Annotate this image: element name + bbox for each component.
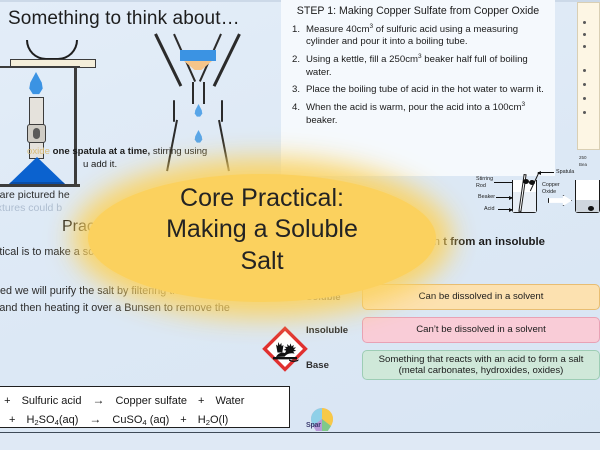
spatula-pointer bbox=[538, 172, 554, 173]
bottom-strip bbox=[0, 432, 600, 450]
step-text: Using a kettle, fill a 250cm3 beaker hal… bbox=[306, 54, 549, 79]
list-item: 2. Using a kettle, fill a 250cm3 beaker … bbox=[287, 54, 549, 79]
step-list: 1. Measure 40cm3 of sulfuric acid using … bbox=[287, 24, 549, 128]
bunsen-flame-icon bbox=[28, 72, 44, 95]
overlay-title-line-3: Salt bbox=[88, 246, 436, 277]
step-instructions-panel: STEP 1: Making Copper Sulfate from Coppe… bbox=[281, 0, 555, 176]
bullet-dot bbox=[583, 97, 586, 100]
slide-thumbnail: Something to think about… ques are pictu… bbox=[0, 0, 600, 450]
symbol-equation-row: + H2SO4(aq) → CuSO4 (aq) + H2O(l) bbox=[0, 412, 289, 426]
acid-label: Acid bbox=[484, 206, 495, 213]
insoluble-fragment-bold: t from an insoluble bbox=[443, 236, 545, 248]
word-arrow-icon: → bbox=[92, 393, 104, 407]
word-plus-2: + bbox=[198, 395, 204, 407]
collection-beaker-left bbox=[173, 100, 175, 122]
step-panel-title: STEP 1: Making Copper Sulfate from Coppe… bbox=[281, 0, 555, 19]
droplet-icon bbox=[194, 130, 203, 143]
step-number: 1. bbox=[287, 24, 300, 49]
definition-meaning: Can’t be dissolved in a solvent bbox=[362, 317, 600, 343]
list-item: 4. When the acid is warm, pour the acid … bbox=[287, 102, 549, 127]
word-equation-box: e + Sulfuric acid → Copper sulfate + Wat… bbox=[0, 386, 290, 428]
page-title: Something to think about… bbox=[8, 8, 240, 30]
stirring-rod-label: StirringRod bbox=[476, 176, 493, 189]
environment-hazard-icon bbox=[262, 326, 308, 372]
definition-meaning: Something that reacts with an acid to fo… bbox=[362, 350, 600, 380]
bullet-dot bbox=[583, 33, 586, 36]
funnel-liquid bbox=[180, 50, 216, 61]
step-text: When the acid is warm, pour the acid int… bbox=[306, 102, 549, 127]
step-number: 2. bbox=[287, 54, 300, 79]
symbol-product-2: H2O(l) bbox=[198, 414, 229, 426]
step-number: 3. bbox=[287, 84, 300, 97]
step-five-suffix: stirring using bbox=[150, 146, 207, 157]
word-plus-1: + bbox=[4, 395, 10, 407]
copper-oxide-label: CopperOxide bbox=[542, 182, 560, 195]
step-text: Measure 40cm3 of sulfuric acid using a m… bbox=[306, 24, 549, 49]
word-equation-row: e + Sulfuric acid → Copper sulfate + Wat… bbox=[0, 393, 289, 407]
funnel-stem-left bbox=[192, 82, 194, 104]
process-arrow-icon bbox=[548, 195, 572, 206]
side-note-line-1: 250 bbox=[579, 155, 600, 162]
bullet-dot bbox=[583, 83, 586, 86]
tripod-top-bar bbox=[0, 66, 80, 68]
bunsen-air-hole bbox=[33, 128, 40, 139]
word-product-1: Copper sulfate bbox=[115, 395, 187, 407]
list-item: 1. Measure 40cm3 of sulfuric acid using … bbox=[287, 24, 549, 49]
symbol-product-1: CuSO4 (aq) bbox=[112, 414, 169, 426]
copper-oxide-powder bbox=[529, 180, 535, 185]
step-number: 4. bbox=[287, 102, 300, 127]
list-item: 3. Place the boiling tube of acid in the… bbox=[287, 84, 549, 97]
bullet-dot bbox=[583, 45, 586, 48]
collection-beaker-right bbox=[221, 100, 223, 122]
step-five-prefix: oxide bbox=[27, 146, 53, 157]
residue-blob bbox=[588, 206, 594, 211]
definitions-table: Soluble Can be dissolved in a solvent In… bbox=[296, 284, 600, 387]
beaker-label: Beaker bbox=[478, 194, 495, 201]
step-five-line-2: u add it. bbox=[27, 159, 271, 172]
spatula-label: Spatula bbox=[556, 169, 574, 176]
droplet-icon bbox=[194, 104, 203, 117]
product-liquid bbox=[576, 200, 599, 212]
beaker-stirring-diagram: StirringRod Beaker Acid Spatula CopperOx… bbox=[476, 168, 600, 230]
symbol-plus-2: + bbox=[180, 414, 186, 426]
side-notes-panel bbox=[577, 2, 600, 150]
symbol-reactant-2: H2SO4(aq) bbox=[26, 414, 78, 426]
bullet-dot bbox=[583, 69, 586, 72]
overlay-title-line-2: Making a Soluble bbox=[88, 214, 436, 245]
logo-text: Spar bbox=[306, 422, 321, 429]
acid-pointer bbox=[498, 209, 512, 210]
step-five-text: oxide one spatula at a time, stirring us… bbox=[27, 146, 271, 171]
step-five-emphasis: one spatula at a time, bbox=[53, 146, 151, 157]
word-reactant-2: Sulfuric acid bbox=[22, 395, 82, 407]
bench-line bbox=[0, 184, 80, 187]
funnel-stem-right bbox=[203, 82, 205, 104]
definition-meaning: Can be dissolved in a solvent bbox=[362, 284, 600, 310]
bullet-dot bbox=[583, 111, 586, 114]
word-product-2: Water bbox=[215, 395, 244, 407]
table-row: Base Something that reacts with an acid … bbox=[296, 350, 600, 380]
beaker-liquid bbox=[513, 192, 536, 212]
table-row: Insoluble Can’t be dissolved in a solven… bbox=[296, 317, 600, 343]
side-notes-caption: 250 Bea bbox=[579, 155, 600, 169]
step-text: Place the boiling tube of acid in the ho… bbox=[306, 84, 544, 97]
bullet-dot bbox=[583, 21, 586, 24]
overlay-title: Core Practical: Making a Soluble Salt bbox=[88, 183, 436, 277]
symbol-plus-1: + bbox=[9, 414, 15, 426]
symbol-arrow-icon: → bbox=[89, 412, 101, 426]
overlay-title-line-1: Core Practical: bbox=[88, 183, 436, 214]
beaker-pointer bbox=[496, 197, 512, 198]
evaporating-dish-icon bbox=[26, 40, 78, 60]
